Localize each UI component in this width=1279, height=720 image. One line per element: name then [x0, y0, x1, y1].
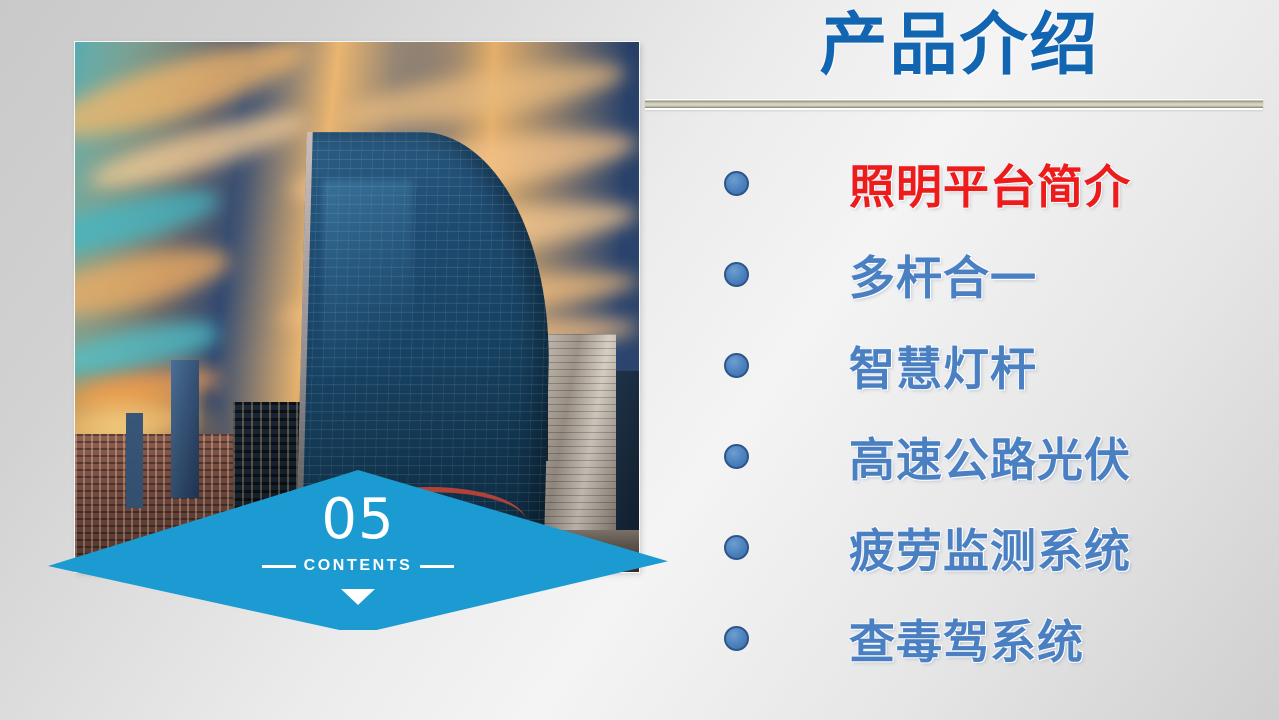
- bullet-dot-icon: [724, 353, 749, 378]
- list-item[interactable]: 疲劳监测系统: [640, 502, 1279, 593]
- bullet-list: 照明平台简介 多杆合一 智慧灯杆 高速公路光伏 疲劳监测系统 查毒驾系统: [640, 138, 1279, 684]
- bullet-dot-icon: [724, 262, 749, 287]
- list-item-label: 智慧灯杆: [849, 333, 1037, 399]
- list-item-label: 疲劳监测系统: [849, 515, 1131, 581]
- title-divider: [645, 99, 1263, 110]
- list-item[interactable]: 查毒驾系统: [640, 593, 1279, 684]
- bullet-dot-icon: [724, 171, 749, 196]
- list-item-label: 照明平台简介: [849, 151, 1131, 217]
- list-item[interactable]: 多杆合一: [640, 229, 1279, 320]
- list-item[interactable]: 照明平台简介: [640, 138, 1279, 229]
- bullet-dot-icon: [724, 535, 749, 560]
- bullet-dot-icon: [724, 444, 749, 469]
- presentation-slide: 05 CONTENTS 产品介绍 照明平台简介 多杆合一 智慧灯杆: [0, 0, 1279, 720]
- list-item[interactable]: 高速公路光伏: [640, 411, 1279, 502]
- list-item[interactable]: 智慧灯杆: [640, 320, 1279, 411]
- list-item-label: 查毒驾系统: [849, 606, 1084, 672]
- bullet-dot-icon: [724, 626, 749, 651]
- list-item-label: 高速公路光伏: [849, 424, 1131, 490]
- page-title: 产品介绍: [640, 6, 1279, 84]
- list-item-label: 多杆合一: [849, 242, 1037, 308]
- right-content-panel: 产品介绍 照明平台简介 多杆合一 智慧灯杆 高速公路光伏 疲劳监测系统: [640, 0, 1279, 720]
